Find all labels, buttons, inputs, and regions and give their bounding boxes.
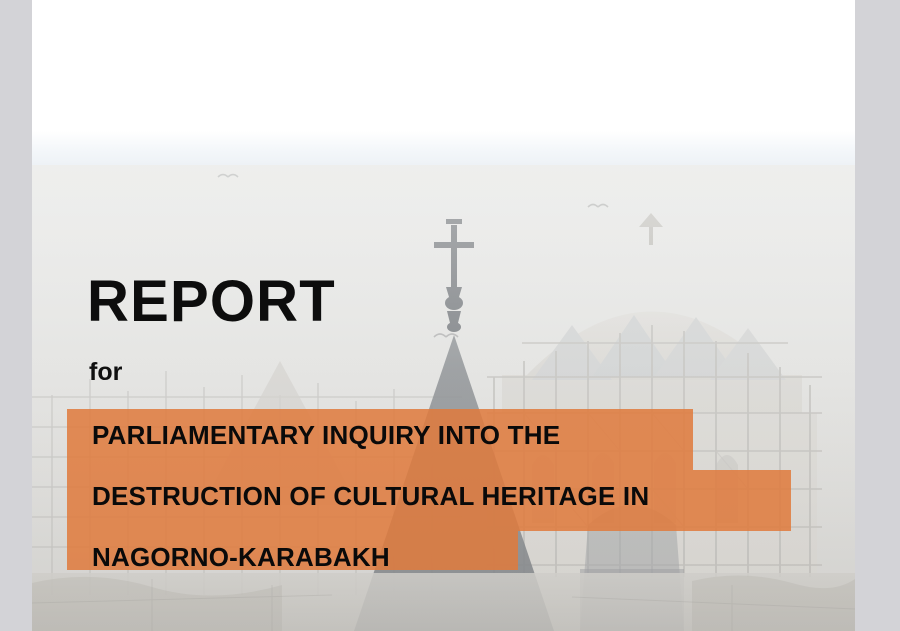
- document-header: [32, 0, 855, 131]
- report-title-line-1: PARLIAMENTARY INQUIRY INTO THE: [92, 420, 649, 451]
- cover-photo: REPORT for PARLIAMENTARY INQUIRY INTO TH…: [32, 165, 855, 631]
- header-fade-strip: [32, 131, 855, 165]
- report-title-line-2: DESTRUCTION OF CULTURAL HERITAGE IN: [92, 481, 649, 512]
- report-title: PARLIAMENTARY INQUIRY INTO THE DESTRUCTI…: [92, 420, 649, 573]
- report-title-line-3: NAGORNO-KARABAKH: [92, 542, 649, 573]
- report-headline: REPORT: [87, 273, 336, 331]
- report-cover-screen: ARMENIAN LEGAL CENTER FOR JUSTICE AND HU…: [0, 0, 900, 631]
- report-connector: for: [89, 360, 122, 385]
- document-page: ARMENIAN LEGAL CENTER FOR JUSTICE AND HU…: [32, 0, 855, 631]
- cover-text-layer: REPORT for PARLIAMENTARY INQUIRY INTO TH…: [32, 165, 855, 631]
